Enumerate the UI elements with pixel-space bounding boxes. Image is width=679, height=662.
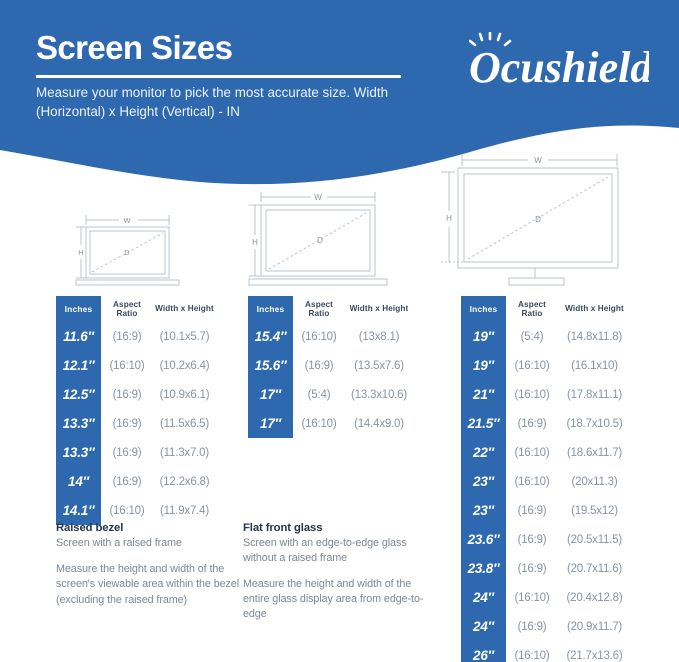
cell-inches: 26″ xyxy=(461,648,506,662)
table-row[interactable]: 12.1″(16:10)(10.2x6.4) xyxy=(56,351,216,380)
cell-inches: 19″ xyxy=(461,358,506,373)
cell-inches: 24″ xyxy=(461,619,506,634)
cell-aspect-ratio: (16:10) xyxy=(101,505,153,517)
header-width-height: Width x Height xyxy=(153,304,216,313)
screen-sizes-infographic: Screen Sizes Measure your monitor to pic… xyxy=(0,0,679,662)
cell-width-height: (12.2x6.8) xyxy=(153,476,216,488)
table-header-row: InchesAspectRatioWidth x Height xyxy=(56,296,216,322)
cell-inches: 12.5″ xyxy=(56,387,101,402)
cell-width-height: (14.4x9.0) xyxy=(345,418,413,430)
width-label: W xyxy=(534,156,542,165)
cell-width-height: (10.9x6.1) xyxy=(153,389,216,401)
header-width-height: Width x Height xyxy=(558,304,631,313)
cell-inches: 22″ xyxy=(461,445,506,460)
table-row[interactable]: 23.6″(16:9)(20.5x11.5) xyxy=(461,525,631,554)
title-divider xyxy=(36,75,401,78)
cell-inches: 17″ xyxy=(248,387,293,402)
caption-body: Measure the height and width of the scre… xyxy=(56,562,241,608)
cell-aspect-ratio: (16:10) xyxy=(293,418,345,430)
height-label: H xyxy=(78,248,83,257)
cell-aspect-ratio: (16:10) xyxy=(506,592,558,604)
cell-aspect-ratio: (16:10) xyxy=(506,447,558,459)
cell-aspect-ratio: (16:9) xyxy=(101,447,153,459)
cell-inches: 23.8″ xyxy=(461,561,506,576)
diagonal-label: D xyxy=(317,236,323,245)
cell-aspect-ratio: (16:10) xyxy=(506,476,558,488)
page-title: Screen Sizes xyxy=(36,31,232,66)
header-inches: Inches xyxy=(248,304,293,314)
table-row[interactable]: 19″(16:10)(16.1x10) xyxy=(461,351,631,380)
size-table-medium: InchesAspectRatioWidth x Height15.4″(16:… xyxy=(248,296,413,438)
caption-raised-bezel: Raised bezel Screen with a raised frame … xyxy=(56,522,241,608)
cell-aspect-ratio: (16:10) xyxy=(506,389,558,401)
cell-width-height: (17.8x11.1) xyxy=(558,389,631,401)
cell-width-height: (20.9x11.7) xyxy=(558,621,631,633)
cell-aspect-ratio: (16:9) xyxy=(506,621,558,633)
header-inches: Inches xyxy=(461,304,506,314)
cell-width-height: (13.5x7.6) xyxy=(345,360,413,372)
header-aspect-ratio: AspectRatio xyxy=(293,300,345,319)
stand-base xyxy=(509,278,564,285)
cell-inches: 14″ xyxy=(56,474,101,489)
cell-inches: 15.4″ xyxy=(248,329,293,344)
height-label: H xyxy=(252,238,258,247)
cell-width-height: (20.4x12.8) xyxy=(558,592,631,604)
size-table-small: InchesAspectRatioWidth x Height11.6″(16:… xyxy=(56,296,216,525)
cell-inches: 23″ xyxy=(461,474,506,489)
cell-aspect-ratio: (16:9) xyxy=(506,505,558,517)
table-row[interactable]: 13.3″(16:9)(11.5x6.5) xyxy=(56,409,216,438)
cell-aspect-ratio: (16:10) xyxy=(101,360,153,372)
table-row[interactable]: 14.1″(16:10)(11.9x7.4) xyxy=(56,496,216,525)
cell-aspect-ratio: (16:9) xyxy=(101,389,153,401)
caption-body: Measure the height and width of the enti… xyxy=(243,577,433,623)
cell-width-height: (18.6x11.7) xyxy=(558,447,631,459)
medium-monitor-diagram: W H D xyxy=(237,185,402,290)
table-rows: InchesAspectRatioWidth x Height11.6″(16:… xyxy=(56,296,216,525)
cell-width-height: (14.8x11.8) xyxy=(558,331,631,343)
header-aspect-ratio: AspectRatio xyxy=(101,300,153,319)
cell-width-height: (18.7x10.5) xyxy=(558,418,631,430)
cell-width-height: (20.7x11.6) xyxy=(558,563,631,575)
cell-inches: 23″ xyxy=(461,503,506,518)
size-table-large: InchesAspectRatioWidth x Height19″(5:4)(… xyxy=(461,296,631,662)
logo-wordmark: Ocushield xyxy=(469,43,649,92)
table-row[interactable]: 15.6″(16:9)(13.5x7.6) xyxy=(248,351,413,380)
cell-width-height: (11.3x7.0) xyxy=(153,447,216,459)
table-row[interactable]: 23.8″(16:9)(20.7x11.6) xyxy=(461,554,631,583)
cell-inches: 13.3″ xyxy=(56,416,101,431)
table-row[interactable]: 13.3″(16:9)(11.3x7.0) xyxy=(56,438,216,467)
header-width-height: Width x Height xyxy=(345,304,413,313)
cell-aspect-ratio: (16:9) xyxy=(506,418,558,430)
cell-aspect-ratio: (16:10) xyxy=(506,360,558,372)
cell-width-height: (13x8.1) xyxy=(345,331,413,343)
caption-subtitle: Screen with an edge-to-edge glass withou… xyxy=(243,536,433,566)
header-aspect-ratio: AspectRatio xyxy=(506,300,558,319)
table-row[interactable]: 23″(16:10)(20x11.3) xyxy=(461,467,631,496)
cell-width-height: (11.5x6.5) xyxy=(153,418,216,430)
table-header-row: InchesAspectRatioWidth x Height xyxy=(248,296,413,322)
cell-aspect-ratio: (16:9) xyxy=(101,476,153,488)
table-row[interactable]: 26″(16:10)(21.7x13.6) xyxy=(461,641,631,662)
cell-width-height: (20.5x11.5) xyxy=(558,534,631,546)
table-rows: InchesAspectRatioWidth x Height15.4″(16:… xyxy=(248,296,413,438)
ocushield-logo: Ocushield xyxy=(469,32,649,94)
table-row[interactable]: 15.4″(16:10)(13x8.1) xyxy=(248,322,413,351)
caption-flat-front-glass: Flat front glass Screen with an edge-to-… xyxy=(243,522,433,623)
cell-aspect-ratio: (16:9) xyxy=(506,534,558,546)
table-row[interactable]: 21.5″(16:9)(18.7x10.5) xyxy=(461,409,631,438)
cell-inches: 19″ xyxy=(461,329,506,344)
table-row[interactable]: 14″(16:9)(12.2x6.8) xyxy=(56,467,216,496)
table-row[interactable]: 17″(5:4)(13.3x10.6) xyxy=(248,380,413,409)
cell-aspect-ratio: (16:10) xyxy=(506,650,558,662)
cell-aspect-ratio: (16:9) xyxy=(101,418,153,430)
cell-width-height: (21.7x13.6) xyxy=(558,650,631,662)
cell-inches: 13.3″ xyxy=(56,445,101,460)
cell-inches: 12.1″ xyxy=(56,358,101,373)
cell-aspect-ratio: (16:9) xyxy=(293,360,345,372)
cell-width-height: (19.5x12) xyxy=(558,505,631,517)
laptop-screen-diagram: W H D xyxy=(60,195,200,290)
table-row[interactable]: 11.6″(16:9)(10.1x5.7) xyxy=(56,322,216,351)
table-row[interactable]: 21″(16:10)(17.8x11.1) xyxy=(461,380,631,409)
cell-width-height: (20x11.3) xyxy=(558,476,631,488)
cell-aspect-ratio: (16:9) xyxy=(101,331,153,343)
stand-base xyxy=(76,280,179,285)
diagonal-label: D xyxy=(124,248,130,257)
cell-aspect-ratio: (5:4) xyxy=(506,331,558,343)
cell-width-height: (10.1x5.7) xyxy=(153,331,216,343)
cell-inches: 11.6″ xyxy=(56,329,101,344)
table-row[interactable]: 17″(16:10)(14.4x9.0) xyxy=(248,409,413,438)
cell-width-height: (13.3x10.6) xyxy=(345,389,413,401)
cell-inches: 24″ xyxy=(461,590,506,605)
caption-title: Raised bezel xyxy=(56,522,241,534)
header-inches: Inches xyxy=(56,304,101,314)
cell-width-height: (10.2x6.4) xyxy=(153,360,216,372)
cell-aspect-ratio: (5:4) xyxy=(293,389,345,401)
table-row[interactable]: 12.5″(16:9)(10.9x6.1) xyxy=(56,380,216,409)
large-monitor-diagram: W H D xyxy=(427,145,642,290)
cell-inches: 14.1″ xyxy=(56,503,101,518)
table-row[interactable]: 23″(16:9)(19.5x12) xyxy=(461,496,631,525)
table-row[interactable]: 24″(16:9)(20.9x11.7) xyxy=(461,612,631,641)
cell-width-height: (16.1x10) xyxy=(558,360,631,372)
cell-inches: 15.6″ xyxy=(248,358,293,373)
cell-inches: 17″ xyxy=(248,416,293,431)
table-row[interactable]: 24″(16:10)(20.4x12.8) xyxy=(461,583,631,612)
table-row[interactable]: 19″(5:4)(14.8x11.8) xyxy=(461,322,631,351)
table-row[interactable]: 22″(16:10)(18.6x11.7) xyxy=(461,438,631,467)
table-rows: InchesAspectRatioWidth x Height19″(5:4)(… xyxy=(461,296,631,662)
caption-title: Flat front glass xyxy=(243,522,433,534)
width-label: W xyxy=(314,193,322,202)
width-label: W xyxy=(123,216,131,225)
page-subtitle: Measure your monitor to pick the most ac… xyxy=(36,83,416,121)
caption-subtitle: Screen with a raised frame xyxy=(56,536,241,551)
cell-width-height: (11.9x7.4) xyxy=(153,505,216,517)
cell-aspect-ratio: (16:9) xyxy=(506,563,558,575)
height-label: H xyxy=(446,214,452,223)
cell-inches: 21″ xyxy=(461,387,506,402)
stand-base xyxy=(249,279,387,285)
cell-aspect-ratio: (16:10) xyxy=(293,331,345,343)
cell-inches: 23.6″ xyxy=(461,532,506,547)
table-header-row: InchesAspectRatioWidth x Height xyxy=(461,296,631,322)
diagonal-label: D xyxy=(535,215,541,224)
cell-inches: 21.5″ xyxy=(461,416,506,431)
